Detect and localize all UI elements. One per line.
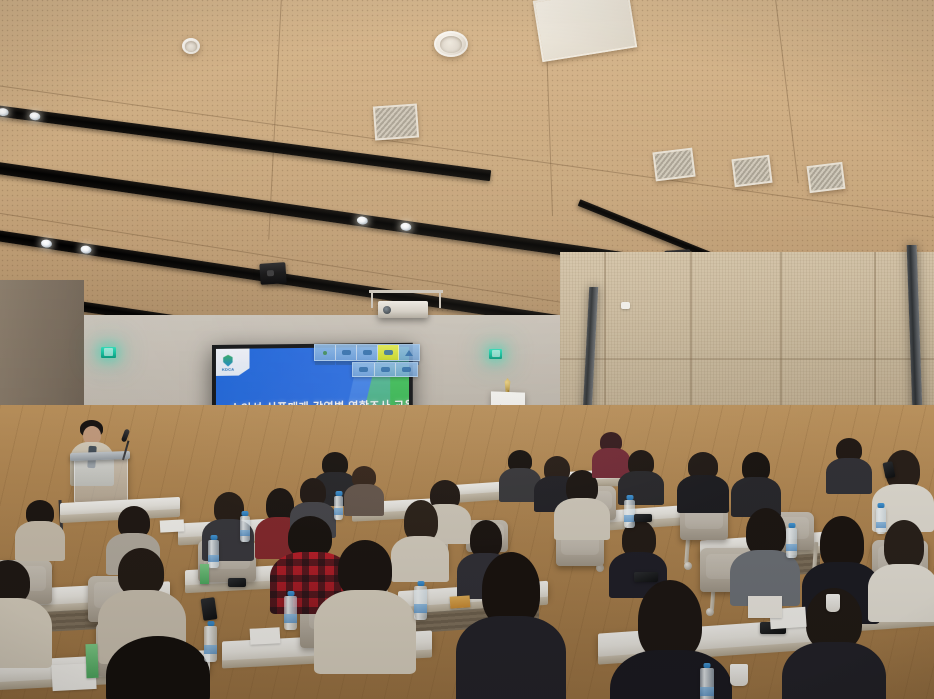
hvac-vent	[372, 103, 418, 140]
water-bottle[interactable]	[284, 596, 297, 630]
exit-sign-right	[489, 349, 502, 359]
hvac-vent	[652, 148, 695, 182]
green-folder[interactable]	[85, 644, 98, 678]
paper-cup[interactable]	[826, 594, 840, 612]
water-bottle[interactable]	[876, 508, 886, 534]
water-bottle[interactable]	[204, 626, 217, 662]
kdca-shield-icon	[223, 354, 233, 366]
handout-paper[interactable]	[250, 627, 281, 645]
smartphone[interactable]	[228, 578, 246, 587]
osd-settings-control[interactable]	[396, 363, 417, 376]
hvac-vent	[732, 155, 773, 187]
water-bottle[interactable]	[240, 516, 250, 542]
water-bottle[interactable]	[414, 586, 427, 620]
smartphone[interactable]	[634, 514, 652, 522]
osd-input-wireless[interactable]	[399, 345, 419, 360]
seminar-room-photograph: KDCA 수인성 식품매개 감염병 역학조사 교육 2025. 03. 13 질…	[0, 0, 934, 699]
wall-outlet-plate[interactable]	[621, 302, 630, 309]
water-bottle[interactable]	[700, 668, 714, 699]
osd-input-hdmi-2[interactable]	[357, 345, 378, 360]
podium	[74, 457, 128, 503]
document-stack[interactable]	[748, 596, 782, 618]
paper-cup[interactable]	[730, 664, 748, 686]
osd-input-hdmi-1[interactable]	[336, 345, 357, 360]
smartphone[interactable]	[201, 597, 218, 621]
water-bottle[interactable]	[786, 528, 797, 558]
osd-mute-control[interactable]	[375, 363, 397, 376]
osd-input-pc-selected[interactable]	[378, 345, 399, 360]
osd-power-indicator[interactable]	[315, 345, 336, 360]
tablet-device[interactable]	[634, 572, 658, 582]
green-folder[interactable]	[200, 564, 209, 584]
osd-volume-control[interactable]	[353, 363, 375, 376]
hvac-vent	[806, 162, 845, 193]
water-bottle[interactable]	[208, 540, 219, 568]
kdca-logo-text: KDCA	[222, 367, 234, 372]
orange-booklet[interactable]	[450, 595, 471, 608]
projector-osd-row1[interactable]	[314, 344, 420, 361]
handout-paper[interactable]	[160, 519, 185, 532]
projector-osd-row2[interactable]	[352, 362, 418, 377]
ceiling-projector	[369, 290, 443, 326]
exit-sign-left	[101, 347, 116, 358]
water-bottle[interactable]	[334, 496, 343, 520]
kdca-logo: KDCA	[222, 354, 234, 371]
wall-speaker-icon	[259, 262, 286, 285]
